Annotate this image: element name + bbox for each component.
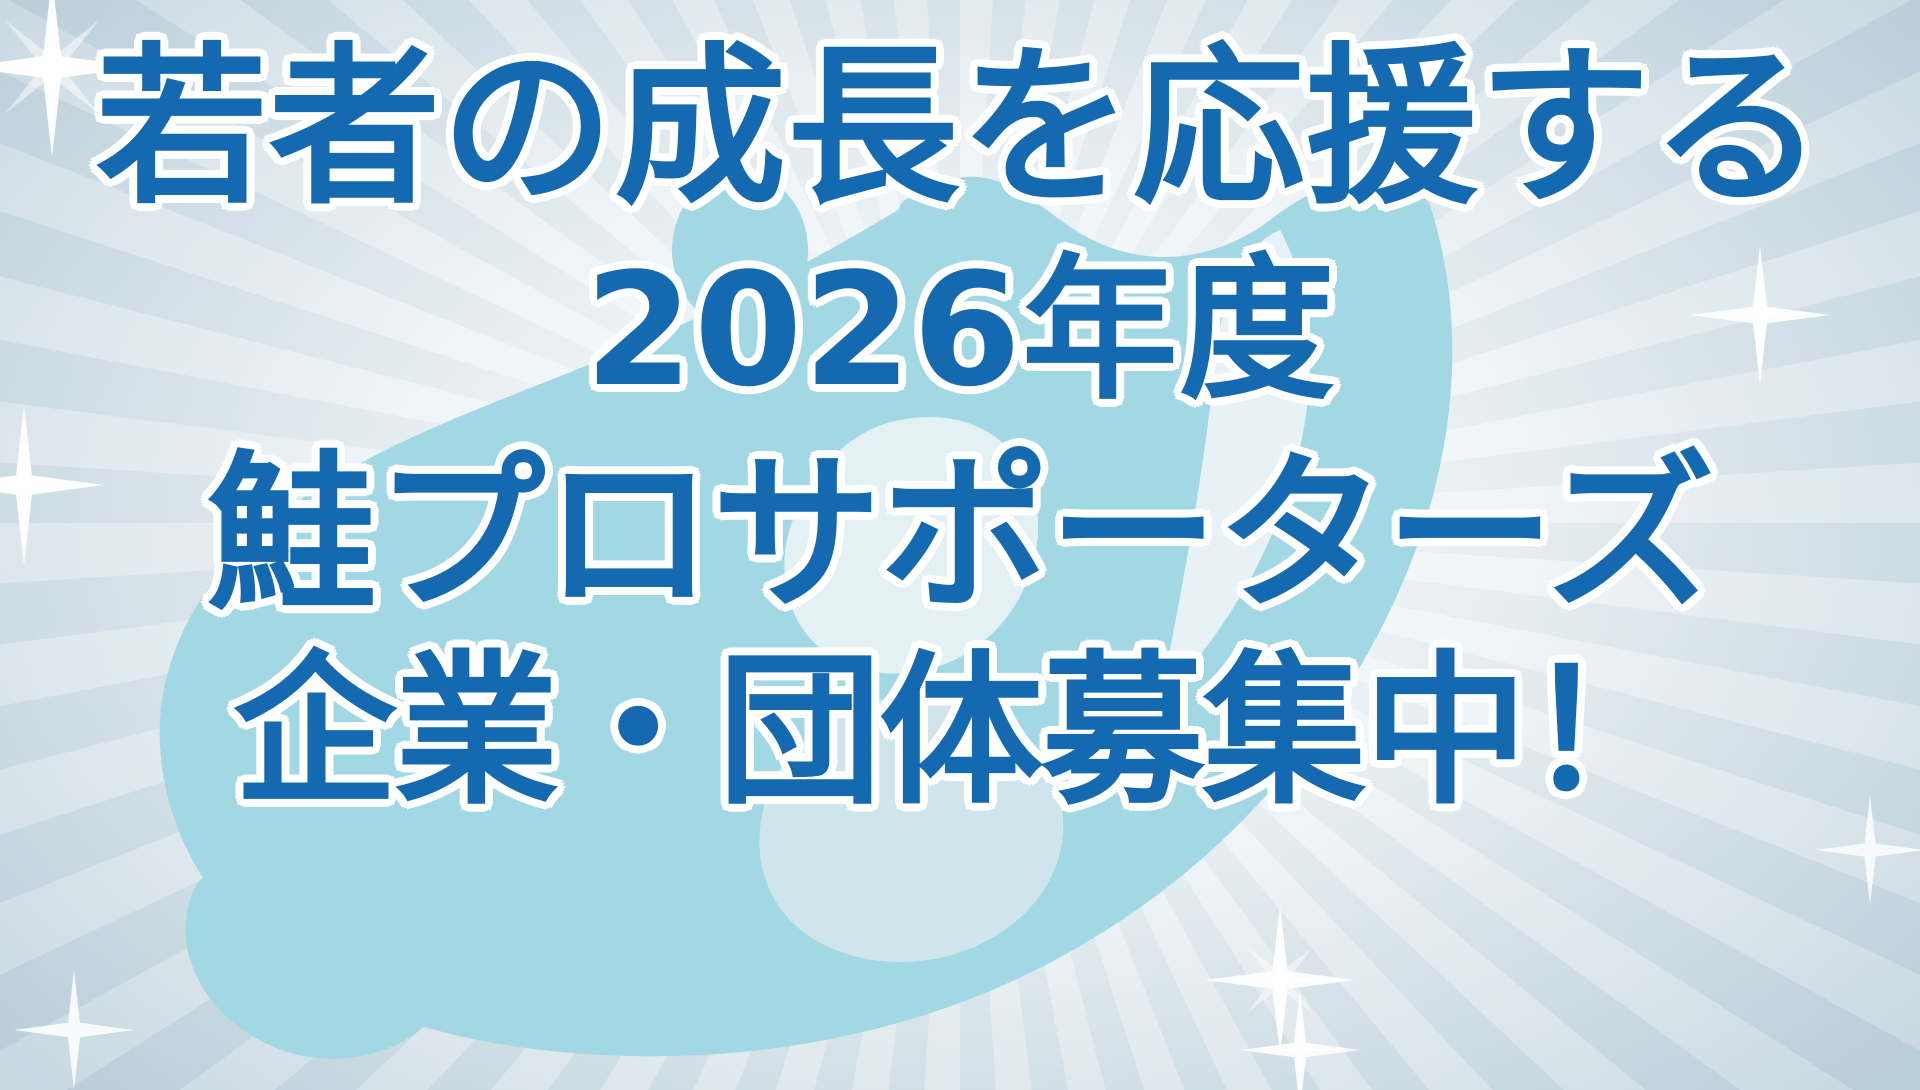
headline-block: 若者の成長を応援する 2026年度 鮭プロサポーターズ 企業・団体募集中！ [0,0,1920,1090]
headline-line-2-year: 2026年度 [585,252,1336,408]
poster-canvas: 若者の成長を応援する 2026年度 鮭プロサポーターズ 企業・団体募集中！ [0,0,1920,1090]
headline-line-3-program-name: 鮭プロサポーターズ [207,450,1713,620]
headline-line-4-call-to-action: 企業・団体募集中！ [233,650,1687,814]
headline-line-1: 若者の成長を応援する [96,42,1825,214]
